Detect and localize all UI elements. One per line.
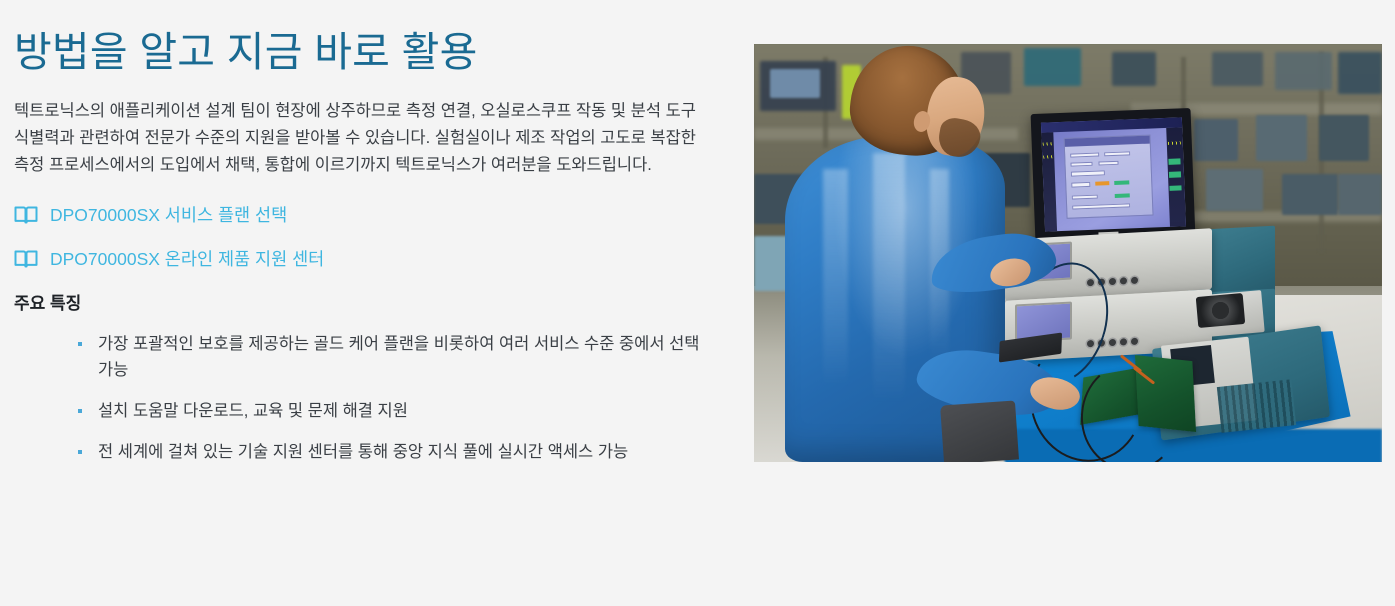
- dialog-button: [1115, 193, 1130, 198]
- background-instrument: [1338, 174, 1382, 216]
- bnc-connector: [1109, 278, 1116, 285]
- background-instrument: [1275, 52, 1332, 90]
- list-item: 가장 포괄적인 보호를 제공하는 골드 케어 플랜을 비롯하여 여러 서비스 수…: [76, 331, 716, 383]
- resource-link-list: DPO70000SX 서비스 플랜 선택 DPO70000SX 온라인 제품 지…: [14, 205, 720, 270]
- feature-list: 가장 포괄적인 보호를 제공하는 골드 케어 플랜을 비롯하여 여러 서비스 수…: [14, 331, 720, 465]
- software-title-bar: [1041, 117, 1182, 132]
- dialog-field: [1071, 152, 1100, 157]
- support-section-page: 방법을 알고 지금 바로 활용 텍트로닉스의 애플리케이션 설계 팀이 현장에 …: [0, 0, 1395, 606]
- bnc-connector: [1131, 337, 1138, 344]
- background-instrument: [1194, 119, 1238, 161]
- list-item: 설치 도움말 다운로드, 교육 및 문제 해결 지원: [76, 398, 716, 424]
- hero-photo: [754, 44, 1382, 462]
- bnc-connector: [1131, 277, 1138, 284]
- background-instrument: [1206, 169, 1263, 211]
- waveform-trace: [1044, 155, 1054, 159]
- link-label[interactable]: DPO70000SX 서비스 플랜 선택: [50, 205, 287, 226]
- dialog-button: [1096, 181, 1110, 185]
- background-instrument: [1212, 52, 1262, 85]
- waveform-trace: [1169, 141, 1182, 145]
- software-left-panel: [1041, 132, 1057, 231]
- background-instrument: [1024, 48, 1081, 86]
- toolbar-button: [1169, 159, 1180, 165]
- monitor-screen: [1041, 117, 1186, 231]
- background-instrument: [1256, 115, 1306, 161]
- background-instrument: [1338, 52, 1382, 94]
- chair: [940, 401, 1019, 462]
- computer-monitor: [1031, 108, 1196, 244]
- dialog-field: [1098, 161, 1119, 166]
- list-item: 전 세계에 걸쳐 있는 기술 지원 센터를 통해 중앙 지식 풀에 실시간 액세…: [76, 439, 716, 465]
- link-online-support-center[interactable]: DPO70000SX 온라인 제품 지원 센터: [14, 249, 324, 270]
- book-icon: [14, 249, 38, 269]
- page-title: 방법을 알고 지금 바로 활용: [14, 28, 720, 76]
- background-instrument: [1282, 174, 1339, 216]
- link-label[interactable]: DPO70000SX 온라인 제품 지원 센터: [50, 249, 324, 270]
- link-service-plan[interactable]: DPO70000SX 서비스 플랜 선택: [14, 205, 287, 226]
- dialog-field: [1072, 194, 1098, 199]
- bnc-connector: [1120, 277, 1127, 284]
- waveform-trace: [1043, 142, 1053, 146]
- toolbar-button: [1170, 172, 1181, 178]
- dialog-field: [1072, 171, 1106, 177]
- background-instrument: [1112, 52, 1156, 85]
- gown-fold: [873, 153, 904, 404]
- ventilation-grill: [1217, 379, 1297, 433]
- dialog-field: [1071, 162, 1093, 167]
- toolbar-button: [1170, 185, 1181, 191]
- dialog-field: [1072, 182, 1091, 187]
- dialog-field: [1105, 151, 1131, 156]
- bnc-connector: [1120, 338, 1127, 345]
- book-icon: [14, 205, 38, 225]
- fan-icon: [1195, 293, 1245, 328]
- background-instrument: [770, 69, 820, 98]
- software-dialog: [1064, 135, 1154, 219]
- features-heading: 주요 특징: [14, 293, 720, 315]
- gown-fold: [823, 169, 848, 386]
- photo-scene: [754, 44, 1382, 462]
- intro-paragraph: 텍트로닉스의 애플리케이션 설계 팀이 현장에 상주하므로 측정 연결, 오실로…: [14, 98, 704, 178]
- dialog-title-bar: [1065, 136, 1151, 147]
- background-instrument: [1319, 115, 1369, 161]
- text-column: 방법을 알고 지금 바로 활용 텍트로닉스의 애플리케이션 설계 팀이 현장에 …: [0, 0, 730, 606]
- dialog-field: [1073, 203, 1131, 210]
- dialog-button: [1115, 181, 1130, 186]
